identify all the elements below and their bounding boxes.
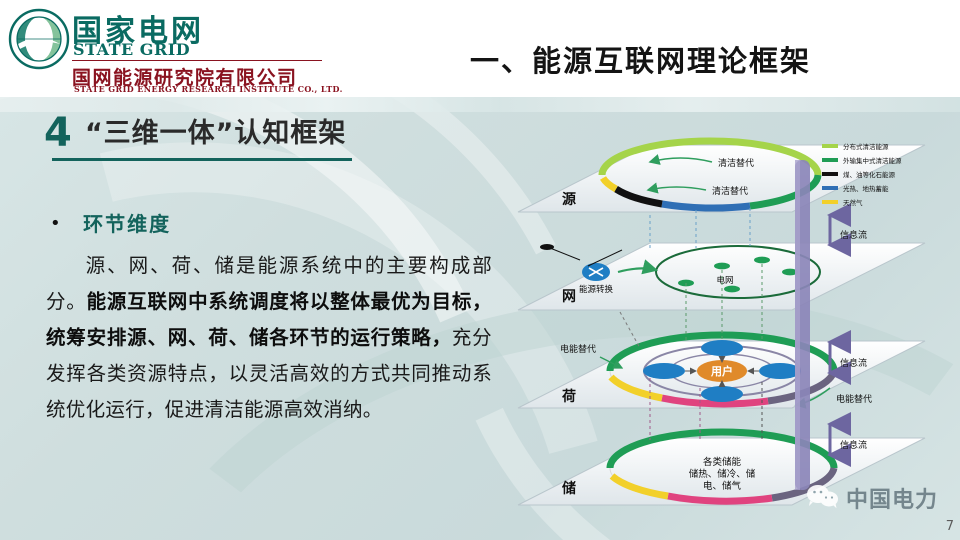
- section-number: 4: [44, 110, 72, 156]
- legend-label-4: 天然气: [843, 198, 863, 207]
- slide-title: 一、能源互联网理论框架: [470, 38, 811, 80]
- state-grid-globe-logo-icon: [8, 8, 70, 70]
- legend-label-1: 外输集中式清洁能源: [843, 156, 902, 165]
- source-ring-label-2: 清洁替代: [712, 185, 748, 197]
- layer-label-load: 荷: [561, 388, 576, 405]
- brand-divider: [72, 60, 322, 61]
- grid-node-label: 能源转换: [579, 284, 614, 295]
- storage-ring-label-2: 储热、储冷、储: [689, 468, 756, 480]
- brand-name-en: STATE GRID: [73, 40, 190, 59]
- bullet-marker: •: [50, 213, 62, 234]
- diagram-energy-pillar: [795, 160, 810, 490]
- info-flow-label-load: 信息流: [840, 357, 867, 369]
- body-paragraph: 源、网、荷、储是能源系统中的主要构成部分。能源互联网中系统调度将以整体最优为目标…: [46, 248, 492, 428]
- slide-header: 国家电网 STATE GRID 国网能源研究院有限公司 STATE GRID E…: [0, 0, 960, 97]
- layer-label-source: 源: [562, 191, 576, 208]
- section-underline: [52, 158, 352, 161]
- grid-ring-label: 电网: [716, 275, 733, 286]
- section-title: “三维一体”认知框架: [85, 111, 347, 150]
- three-dimension-framework-diagram: 各类储能 储热、储冷、储 电、储气 储 用户: [500, 120, 940, 535]
- load-center-label: 用户: [711, 364, 733, 378]
- layer-label-storage: 储: [561, 480, 576, 497]
- load-ring-label-left: 电能替代: [560, 343, 596, 355]
- info-flow-label-grid: 信息流: [840, 229, 867, 241]
- institute-name-en: STATE GRID ENERGY RESEARCH INSTITUTE CO.…: [74, 84, 343, 94]
- storage-ring-label-1: 各类储能: [703, 456, 742, 468]
- section-heading: 4 “三维一体”认知框架: [44, 110, 346, 156]
- page-number: 7: [946, 519, 954, 534]
- legend-label-3: 光热、地热蓄能: [843, 184, 889, 193]
- bullet-label: 环节维度: [83, 208, 171, 237]
- watermark-text: 中国电力: [846, 482, 938, 514]
- info-flow-label-storage: 信息流: [840, 439, 867, 451]
- diagram-layer-load: 用户 电能替代 电能替代 荷: [518, 335, 925, 408]
- load-ring-label-right: 电能替代: [836, 393, 872, 405]
- wechat-icon: [806, 483, 840, 513]
- layer-label-grid: 网: [562, 289, 576, 305]
- paragraph-emphasis: 能源互联网中系统调度将以整体最优为目标，统筹安排源、网、荷、储各环节的运行策略，: [46, 290, 492, 349]
- legend-label-2: 煤、油等化石能源: [843, 170, 896, 179]
- legend-item-4: 天然气: [822, 198, 863, 207]
- source-ring-label-1: 清洁替代: [718, 157, 754, 169]
- slide-root: 国家电网 STATE GRID 国网能源研究院有限公司 STATE GRID E…: [0, 0, 960, 540]
- bullet-heading: • 环节维度: [50, 208, 490, 237]
- legend-label-0: 分布式清洁能源: [843, 142, 889, 151]
- storage-ring-label-3: 电、储气: [703, 480, 742, 492]
- watermark: 中国电力: [806, 482, 938, 514]
